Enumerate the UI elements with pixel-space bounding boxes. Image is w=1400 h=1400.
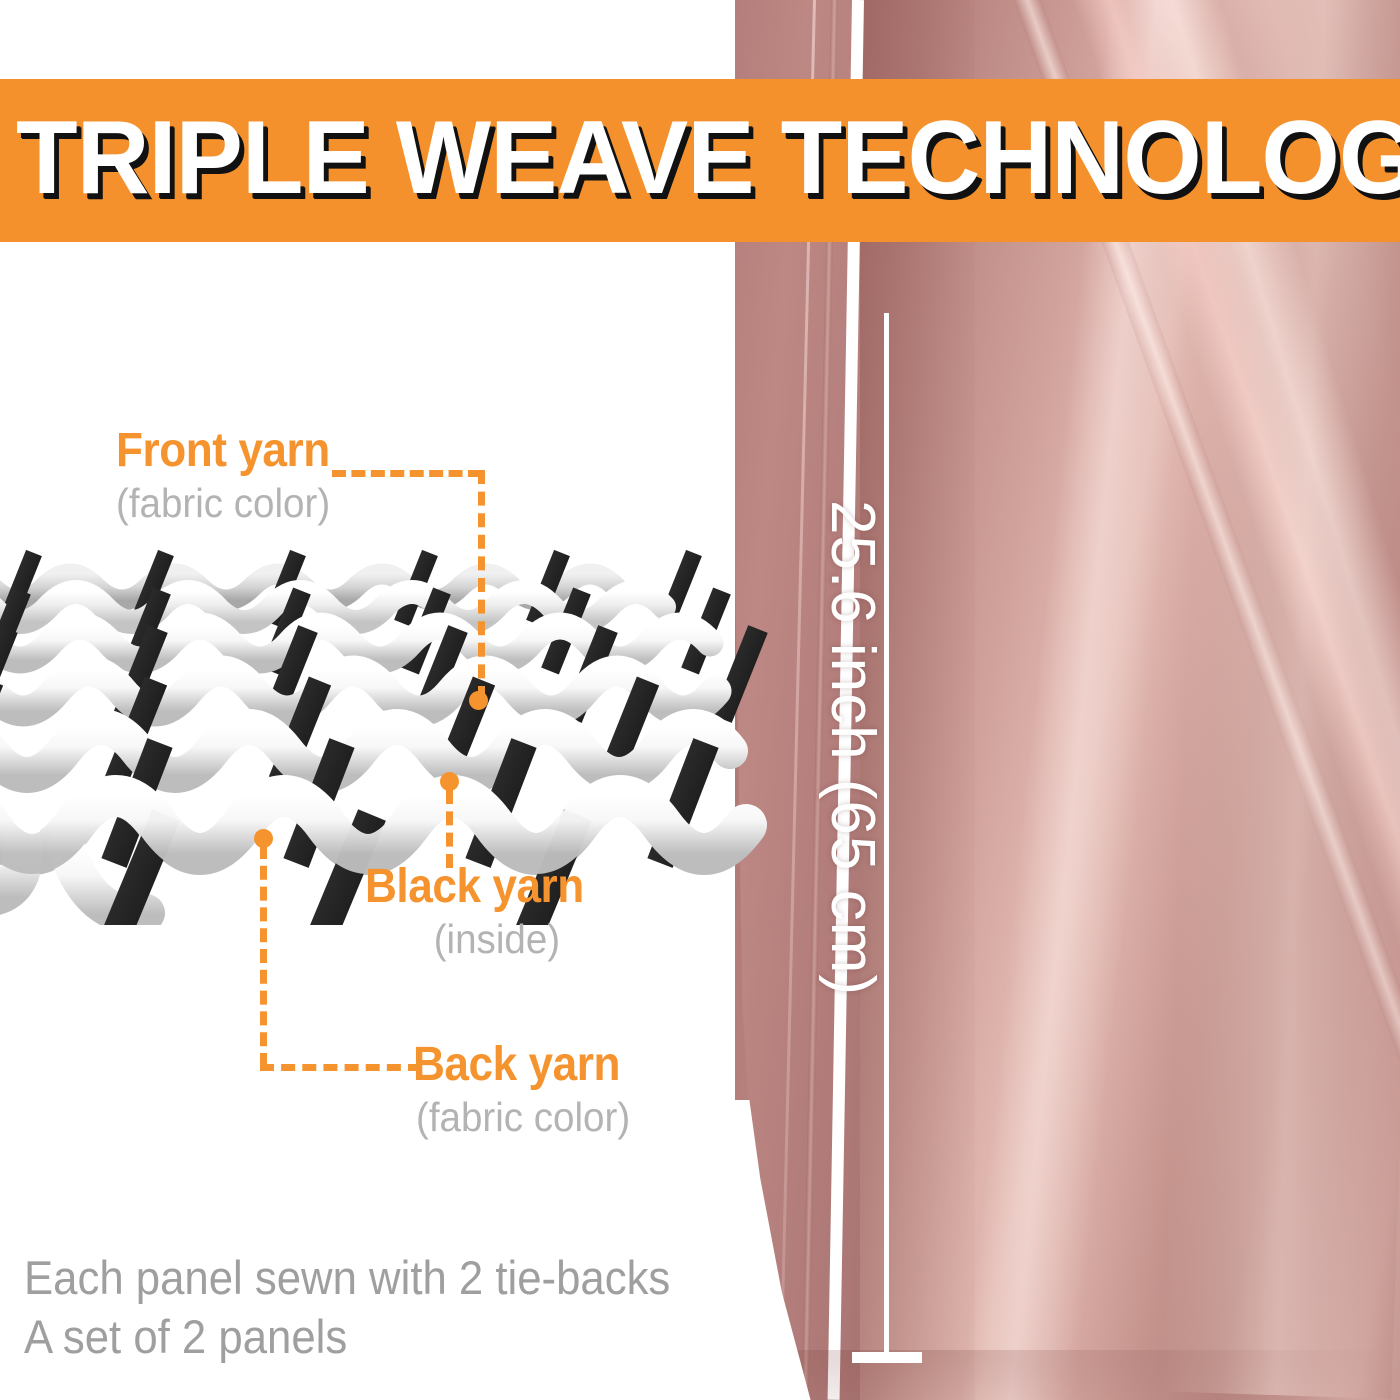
footer-notes: Each panel sewn with 2 tie-backs A set o…: [24, 1248, 719, 1366]
measurement-label: 25.6 inch (65 cm): [817, 500, 888, 1140]
callout-front-yarn-label: Front yarn: [116, 424, 330, 478]
front-yarn-leader-dot: [469, 691, 488, 710]
infographic-canvas: 25.6 inch (65 cm) TRIPLE WEAVE TECHNOLOG…: [0, 0, 1400, 1400]
black-yarn-leader-vertical: [446, 790, 453, 868]
callout-front-yarn: Front yarn (fabric color): [116, 424, 348, 528]
weave-row-3: [0, 671, 716, 711]
measure-line-bottom-cap: [852, 1352, 922, 1363]
footer-line-panel-count: A set of 2 panels: [24, 1307, 670, 1366]
callout-black-yarn-label: Black yarn: [365, 860, 584, 914]
back-yarn-leader-horizontal: [260, 1064, 422, 1071]
callout-black-yarn-sub: (inside): [403, 914, 591, 964]
black-yarn-leader-dot: [440, 772, 459, 791]
callout-back-yarn-label: Back yarn: [413, 1038, 625, 1092]
back-yarn-leader-vertical: [260, 845, 267, 1067]
callout-back-yarn-sub: (fabric color): [416, 1092, 630, 1142]
curtain-bottom-shade: [735, 1350, 1400, 1400]
callout-back-yarn: Back yarn (fabric color): [413, 1038, 644, 1142]
callout-front-yarn-sub: (fabric color): [116, 478, 334, 528]
front-yarn-leader-vertical: [478, 470, 485, 700]
callout-black-yarn: Black yarn (inside): [365, 860, 603, 964]
header-banner: TRIPLE WEAVE TECHNOLOGY: [0, 79, 1400, 242]
front-yarn-leader-horizontal: [332, 470, 482, 477]
footer-line-tiebacks: Each panel sewn with 2 tie-backs: [24, 1248, 670, 1307]
banner-title: TRIPLE WEAVE TECHNOLOGY: [16, 83, 1400, 233]
